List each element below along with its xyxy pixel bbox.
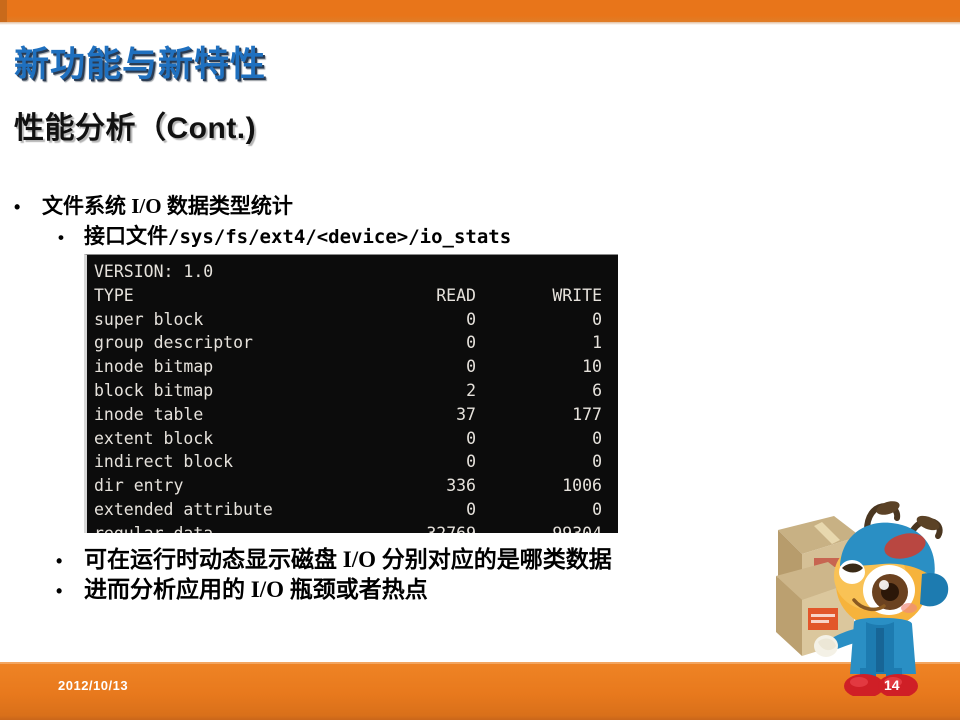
row-type: extent block [94,427,380,451]
bullet-runtime-display-text: 可在运行时动态显示磁盘 I/O 分别对应的是哪类数据 [84,540,612,574]
mascot-ant-courier-icon [762,496,958,696]
row-read: 336 [380,474,476,498]
table-row: extended attribute 0 0 [87,498,618,522]
terminal-header-read: READ [380,284,476,308]
row-type: super block [94,308,380,332]
row-type: block bitmap [94,379,380,403]
row-read: 32769 [380,522,476,533]
table-row: indirect block 0 0 [87,450,618,474]
row-type: group descriptor [94,331,380,355]
bullet-filesystem-stats: • 文件系统 I/O 数据类型统计 [14,190,293,220]
terminal-header-write: WRITE [476,284,602,308]
table-row: inode table 37 177 [87,403,618,427]
slide-title: 新功能与新特性 [14,36,266,87]
row-type: inode bitmap [94,355,380,379]
table-row: block bitmap 2 6 [87,379,618,403]
presentation-slide: 新功能与新特性 性能分析（Cont.) • 文件系统 I/O 数据类型统计 • … [0,0,960,720]
table-row: super block 0 0 [87,308,618,332]
bullet-marker-icon: • [58,228,84,248]
row-read: 0 [380,427,476,451]
row-type: regular data [94,522,380,533]
terminal-version-line: VERSION: 1.0 [87,260,618,284]
bullet-interface-file: • 接口文件 /sys/fs/ext4/<device>/io_stats [58,220,511,250]
bullet-marker-icon: • [56,581,84,602]
bullet-runtime-display: • 可在运行时动态显示磁盘 I/O 分别对应的是哪类数据 [56,540,612,574]
row-write: 10 [476,355,602,379]
top-bar-shadow [0,22,960,25]
top-bar-left-cap [0,0,7,22]
row-type: dir entry [94,474,380,498]
table-row: regular data 32769 99304 [87,522,618,533]
row-write: 99304 [476,522,602,533]
table-row: group descriptor 0 1 [87,331,618,355]
row-type: inode table [94,403,380,427]
bullet-marker-icon: • [14,197,42,218]
table-row: extent block 0 0 [87,427,618,451]
slide-subtitle: 性能分析（Cont.) [14,103,256,147]
bullet-filesystem-stats-text: 文件系统 I/O 数据类型统计 [42,190,293,220]
row-write: 177 [476,403,602,427]
row-read: 0 [380,498,476,522]
table-row: inode bitmap 0 10 [87,355,618,379]
row-write: 1 [476,331,602,355]
terminal-version-text: VERSION: 1.0 [94,260,213,284]
row-write: 0 [476,308,602,332]
row-write: 0 [476,450,602,474]
row-read: 37 [380,403,476,427]
row-type: indirect block [94,450,380,474]
row-read: 0 [380,355,476,379]
table-row: dir entry 336 1006 [87,474,618,498]
terminal-output-block: VERSION: 1.0 TYPE READ WRITE super block… [84,254,618,533]
bullet-interface-file-path: /sys/fs/ext4/<device>/io_stats [168,226,511,248]
row-write: 0 [476,427,602,451]
row-read: 2 [380,379,476,403]
terminal-header-type: TYPE [94,284,380,308]
row-write: 0 [476,498,602,522]
row-write: 1006 [476,474,602,498]
row-write: 6 [476,379,602,403]
top-accent-bar [0,0,960,22]
row-read: 0 [380,450,476,474]
bullet-analyze-bottleneck: • 进而分析应用的 I/O 瓶颈或者热点 [56,570,428,604]
bullet-analyze-bottleneck-text: 进而分析应用的 I/O 瓶颈或者热点 [84,570,428,604]
bullet-interface-file-label: 接口文件 [84,220,168,250]
bullet-marker-icon: • [56,551,84,572]
row-read: 0 [380,331,476,355]
footer-date: 2012/10/13 [58,678,128,693]
terminal-header-row: TYPE READ WRITE [87,284,618,308]
footer-page-number: 14 [884,677,900,693]
row-read: 0 [380,308,476,332]
row-type: extended attribute [94,498,380,522]
